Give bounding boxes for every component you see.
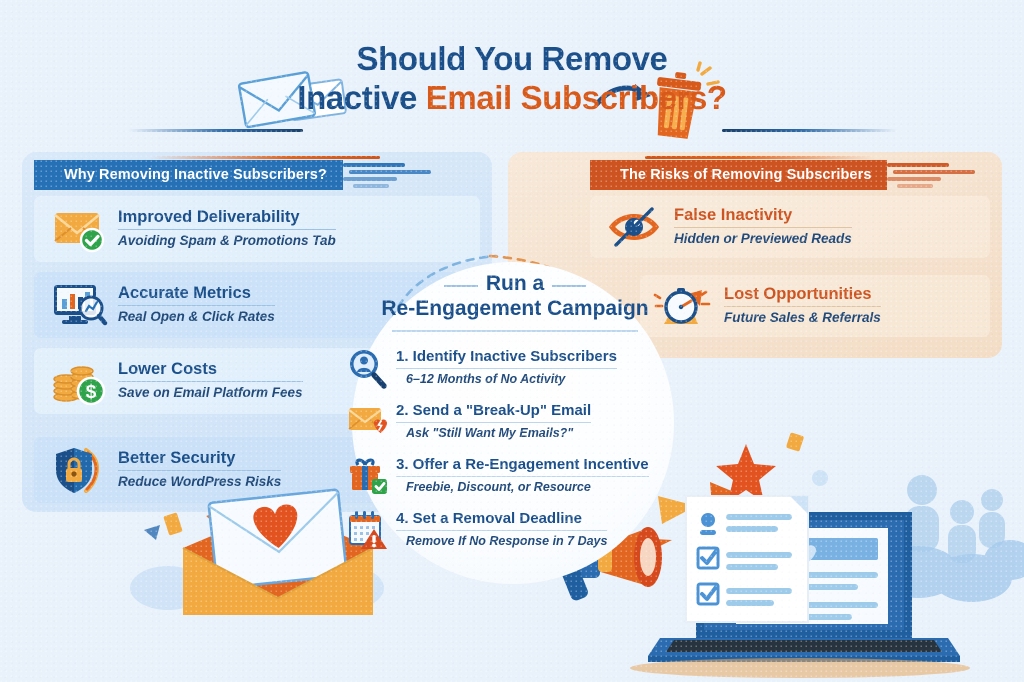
list-item-text: Accurate Metrics Real Open & Click Rates — [118, 284, 275, 325]
center-heading-line-1: Run a — [474, 272, 556, 295]
list-item-title: False Inactivity — [674, 206, 852, 227]
calendar-warning-icon — [348, 509, 388, 551]
center-heading: Run a Re-Engagement Campaign — [340, 272, 690, 321]
right-section-banner: The Risks of Removing Subscribers — [590, 160, 979, 190]
center-heading-rule — [392, 330, 638, 332]
step-subtitle: Freebie, Discount, or Resource — [396, 477, 649, 494]
right-banner-streaks — [887, 160, 979, 190]
center-section: Run a Re-Engagement Campaign 1. Identify… — [340, 272, 690, 592]
left-section-banner: Why Removing Inactive Subscribers? — [34, 160, 435, 190]
step-title: 1. Identify Inactive Subscribers — [396, 349, 617, 369]
list-item-subtitle: Save on Email Platform Fees — [118, 382, 303, 402]
list-item-title: Accurate Metrics — [118, 284, 275, 305]
title-line-2-part-1: Inactive — [297, 79, 425, 116]
list-item-lost-opportunities[interactable]: Lost Opportunities Future Sales & Referr… — [640, 275, 990, 337]
list-item-title: Improved Deliverability — [118, 208, 336, 229]
gift-check-icon — [348, 455, 388, 497]
title-rule-orange-left — [150, 156, 380, 159]
list-item-title: Lower Costs — [118, 360, 303, 381]
page-title: Should You Remove Inactive Email Subscri… — [0, 30, 1024, 114]
list-item-title: Lost Opportunities — [724, 285, 881, 306]
list-item-subtitle: Real Open & Click Rates — [118, 306, 275, 326]
step-subtitle: Ask "Still Want My Emails?" — [396, 423, 591, 440]
banner-notch — [590, 160, 612, 190]
center-heading-line-2: Re-Engagement Campaign — [340, 297, 690, 321]
steps-list: 1. Identify Inactive Subscribers 6–12 Mo… — [340, 341, 690, 557]
step-subtitle: 6–12 Months of No Activity — [396, 369, 617, 386]
left-banner-body: Why Removing Inactive Subscribers? — [34, 160, 343, 190]
infographic-canvas: Should You Remove Inactive Email Subscri… — [0, 0, 1024, 682]
list-item-improved-deliverability[interactable]: Improved Deliverability Avoiding Spam & … — [34, 196, 480, 262]
list-item-text: False Inactivity Hidden or Previewed Rea… — [674, 206, 852, 247]
list-item-text: Lower Costs Save on Email Platform Fees — [118, 360, 303, 401]
envelope-broken-heart-icon — [348, 401, 388, 443]
svg-text:$: $ — [86, 382, 97, 403]
right-banner-label: The Risks of Removing Subscribers — [620, 167, 871, 183]
step-text: 2. Send a "Break-Up" Email Ask "Still Wa… — [396, 403, 591, 440]
list-item-subtitle: Hidden or Previewed Reads — [674, 228, 852, 248]
step-title: 2. Send a "Break-Up" Email — [396, 403, 591, 423]
step-title: 4. Set a Removal Deadline — [396, 511, 607, 531]
envelope-check-icon — [52, 203, 108, 255]
step-item-send-break-up-email[interactable]: 2. Send a "Break-Up" Email Ask "Still Wa… — [340, 395, 690, 449]
step-title: 3. Offer a Re-Engagement Incentive — [396, 457, 649, 477]
step-text: 1. Identify Inactive Subscribers 6–12 Mo… — [396, 349, 617, 386]
user-magnifier-icon — [348, 347, 388, 389]
title-rule-orange-right — [645, 156, 875, 159]
shield-lock-icon — [52, 444, 108, 496]
step-text: 3. Offer a Re-Engagement Incentive Freeb… — [396, 457, 649, 494]
eye-slash-icon — [608, 201, 664, 253]
title-rule-blue-right — [722, 129, 897, 132]
list-item-subtitle: Avoiding Spam & Promotions Tab — [118, 230, 336, 250]
step-item-offer-incentive[interactable]: 3. Offer a Re-Engagement Incentive Freeb… — [340, 449, 690, 503]
banner-notch — [34, 160, 56, 190]
step-item-identify-inactive-subscribers[interactable]: 1. Identify Inactive Subscribers 6–12 Mo… — [340, 341, 690, 395]
title-line-2-part-2: Email Subscribers? — [426, 79, 727, 116]
left-banner-label: Why Removing Inactive Subscribers? — [64, 167, 327, 183]
coins-dollar-icon: $ — [52, 355, 108, 407]
list-item-false-inactivity[interactable]: False Inactivity Hidden or Previewed Rea… — [590, 196, 990, 258]
step-subtitle: Remove If No Response in 7 Days — [396, 531, 607, 548]
monitor-chart-magnifier-icon — [52, 279, 108, 331]
list-item-title: Better Security — [118, 449, 281, 470]
title-line-2: Inactive Email Subscribers? — [0, 76, 1024, 115]
title-block: Should You Remove Inactive Email Subscri… — [0, 30, 1024, 135]
step-item-set-removal-deadline[interactable]: 4. Set a Removal Deadline Remove If No R… — [340, 503, 690, 557]
list-item-text: Improved Deliverability Avoiding Spam & … — [118, 208, 336, 249]
step-text: 4. Set a Removal Deadline Remove If No R… — [396, 511, 607, 548]
list-item-text: Lost Opportunities Future Sales & Referr… — [724, 285, 881, 326]
title-line-1: Should You Remove — [0, 30, 1024, 76]
left-banner-streaks — [343, 160, 435, 190]
list-item-subtitle: Future Sales & Referrals — [724, 307, 881, 327]
right-banner-body: The Risks of Removing Subscribers — [590, 160, 887, 190]
